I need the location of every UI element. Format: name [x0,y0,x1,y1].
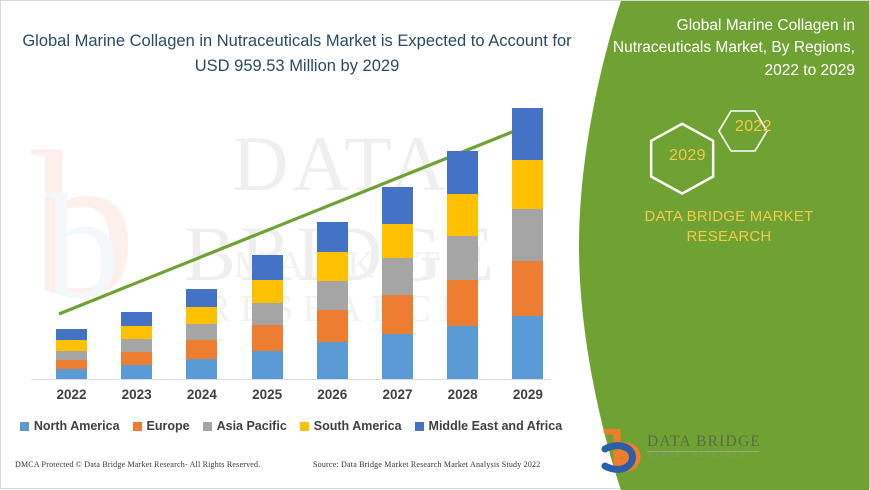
panel-brand-text: DATA BRIDGE MARKET RESEARCH [609,207,849,248]
x-axis-label-2026: 2026 [304,387,360,402]
hexagon-outlines [631,99,811,209]
legend-item-asia-pacific[interactable]: Asia Pacific [203,419,287,433]
x-axis-label-2022: 2022 [44,387,100,402]
page-title: Global Marine Collagen in Nutraceuticals… [19,29,575,79]
chart-legend: North AmericaEuropeAsia PacificSouth Ame… [1,419,581,433]
bar-2023 [121,312,152,379]
bar-segment-north-america [56,369,87,379]
legend-label: Europe [147,419,190,433]
bar-segment-europe [512,261,543,316]
bar-segment-north-america [317,342,348,379]
panel-title: Global Marine Collagen in Nutraceuticals… [605,15,855,82]
legend-item-europe[interactable]: Europe [133,419,190,433]
bar-segment-south-america [56,340,87,350]
logo-wordmark: DATA BRIDGE [647,433,761,451]
bar-segment-south-america [186,307,217,324]
infographic-root: b b DATA BRIDGE MARKET RESEARCH Global M… [0,0,870,489]
panel-brand-line-2: RESEARCH [609,227,849,247]
bar-segment-europe [252,325,283,350]
hexagon-label-2022: 2022 [735,118,772,136]
bar-segment-middle-east-and-africa [186,289,217,307]
legend-swatch-icon [20,422,29,431]
bar-segment-middle-east-and-africa [252,255,283,279]
bar-segment-asia-pacific [382,258,413,295]
bar-segment-north-america [121,365,152,379]
footer-source: Source: Data Bridge Market Research Mark… [313,460,540,469]
bar-2028 [447,151,478,379]
bar-2025 [252,255,283,379]
bar-segment-europe [382,295,413,335]
bar-2022 [56,329,87,379]
bar-segment-south-america [512,160,543,209]
bar-segment-europe [317,310,348,342]
legend-item-north-america[interactable]: North America [20,419,120,433]
bar-segment-asia-pacific [447,236,478,280]
bar-segment-middle-east-and-africa [317,222,348,252]
bar-segment-north-america [252,351,283,379]
bar-segment-europe [447,280,478,327]
bar-segment-middle-east-and-africa [56,329,87,340]
legend-item-middle-east-and-africa[interactable]: Middle East and Africa [415,419,563,433]
x-axis-labels: 20222023202420252026202720282029 [1,387,581,409]
bar-segment-middle-east-and-africa [382,187,413,224]
bar-segment-north-america [382,334,413,379]
legend-swatch-icon [133,422,142,431]
bar-segment-europe [121,352,152,365]
bar-segment-asia-pacific [121,339,152,351]
bar-segment-middle-east-and-africa [512,108,543,160]
legend-item-south-america[interactable]: South America [300,419,402,433]
bar-segment-asia-pacific [56,351,87,360]
legend-swatch-icon [300,422,309,431]
bar-2029 [512,108,543,379]
bar-segment-asia-pacific [252,303,283,325]
hexagon-badges: 2029 2022 [631,99,811,209]
logo-underline [647,451,759,452]
x-axis-label-2025: 2025 [239,387,295,402]
legend-swatch-icon [415,422,424,431]
bar-segment-south-america [252,280,283,303]
legend-label: South America [314,419,402,433]
bar-segment-north-america [512,316,543,379]
bar-segment-south-america [121,326,152,339]
x-axis-label-2029: 2029 [500,387,556,402]
hexagon-label-2029: 2029 [669,147,706,165]
bar-segment-north-america [447,326,478,379]
bar-segment-south-america [447,194,478,236]
footer-copyright: DMCA Protected © Data Bridge Market Rese… [15,460,260,469]
x-axis-label-2027: 2027 [370,387,426,402]
logo-subtitle: MARKET RESEARCH [648,453,747,459]
bar-2027 [382,187,413,379]
bar-segment-north-america [186,359,217,379]
panel-brand-line-1: DATA BRIDGE MARKET [609,207,849,227]
chart-plot-area [1,101,581,386]
bar-2026 [317,222,348,379]
x-axis-label-2023: 2023 [109,387,165,402]
bar-segment-middle-east-and-africa [121,312,152,326]
legend-label: Middle East and Africa [429,419,563,433]
bar-segment-asia-pacific [186,324,217,340]
legend-swatch-icon [203,422,212,431]
legend-label: North America [34,419,120,433]
bar-segment-south-america [382,224,413,259]
data-bridge-logo: DATA BRIDGE MARKET RESEARCH [601,429,791,475]
bar-segment-asia-pacific [317,281,348,310]
bar-segment-south-america [317,252,348,280]
bar-segment-europe [186,340,217,358]
right-green-panel: Global Marine Collagen in Nutraceuticals… [569,1,869,490]
x-axis-label-2028: 2028 [435,387,491,402]
legend-label: Asia Pacific [217,419,287,433]
stacked-bar-group [1,101,581,386]
bar-2024 [186,289,217,379]
bar-segment-europe [56,360,87,369]
x-axis-label-2024: 2024 [174,387,230,402]
bar-segment-middle-east-and-africa [447,151,478,195]
bar-segment-asia-pacific [512,209,543,262]
logo-mark-icon [601,429,647,473]
